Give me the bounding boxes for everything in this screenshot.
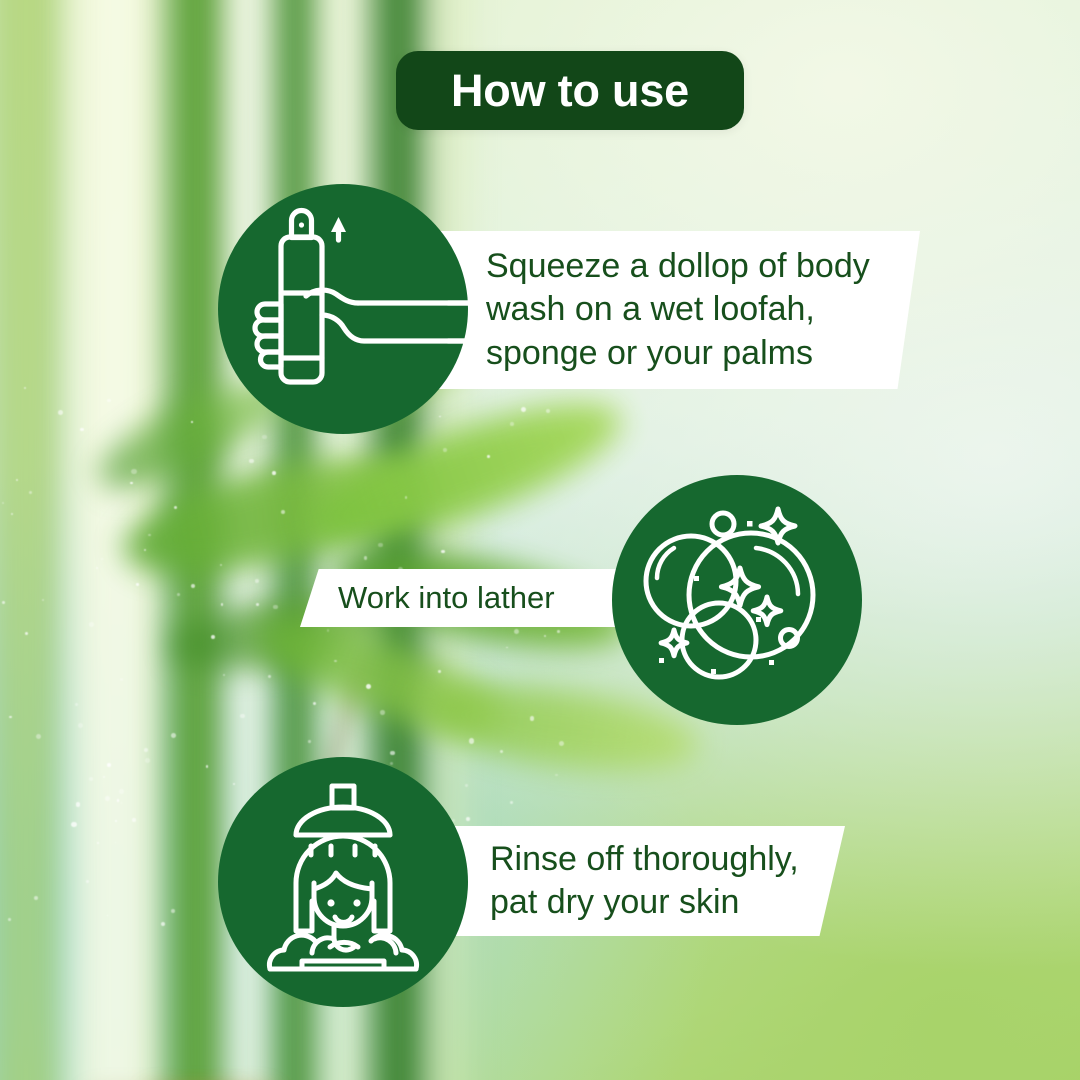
sparkle-dot xyxy=(249,459,253,463)
sparkle-dot xyxy=(132,818,136,822)
sparkle-dot xyxy=(145,758,150,763)
sparkle-dot xyxy=(206,765,208,767)
sparkle-dot xyxy=(366,684,371,689)
sparkle-dot xyxy=(177,593,180,596)
step-2-text: Work into lather xyxy=(338,579,555,616)
sparkle-dot xyxy=(438,670,440,672)
step-2-icon-circle xyxy=(612,475,862,725)
infographic-canvas: How to use Squeeze a dollop of body wash… xyxy=(0,0,1080,1080)
sparkle-dot xyxy=(390,751,395,756)
sparkle-dot xyxy=(262,435,267,440)
sparkle-dot xyxy=(220,564,222,566)
sparkle-dot xyxy=(71,822,76,827)
sparkle-dot xyxy=(308,740,310,742)
sparkle-dot xyxy=(144,549,146,551)
sparkle-dot xyxy=(443,448,447,452)
sparkle-dot xyxy=(117,799,119,801)
sparkle-dot xyxy=(131,469,136,474)
sparkle-dot xyxy=(255,579,259,583)
sparkle-dot xyxy=(76,802,80,806)
sparkle-dot xyxy=(510,801,513,804)
sparkle-dot xyxy=(80,428,83,431)
soap-bubbles-sparkle-icon xyxy=(612,475,862,725)
step-1-text: Squeeze a dollop of body wash on a wet l… xyxy=(486,245,920,375)
sparkle-dot xyxy=(555,774,558,777)
sparkle-dot xyxy=(161,922,165,926)
sparkle-dot xyxy=(191,421,193,423)
sparkle-dot xyxy=(256,603,259,606)
how-to-use-title-badge: How to use xyxy=(396,51,744,130)
sparkle-dot xyxy=(148,534,151,537)
sparkle-dot xyxy=(313,702,316,705)
sparkle-dot xyxy=(364,556,367,559)
woman-showering-icon xyxy=(218,757,468,1007)
sparkle-dot xyxy=(544,635,546,637)
sparkle-dot xyxy=(380,710,385,715)
sparkle-dot xyxy=(89,622,94,627)
sparkle-dot xyxy=(378,543,383,548)
sparkle-dot xyxy=(120,678,123,681)
sparkle-dot xyxy=(78,723,83,728)
arm-overflow-lines xyxy=(218,184,518,434)
sparkle-dot xyxy=(105,796,110,801)
sparkle-dot xyxy=(557,630,560,633)
step-3-text: Rinse off thoroughly, pat dry your skin xyxy=(490,838,845,924)
page-title: How to use xyxy=(451,68,689,113)
sparkle-dot xyxy=(171,733,176,738)
sparkle-dot xyxy=(469,738,474,743)
sparkle-dot xyxy=(130,482,133,485)
sparkle-dot xyxy=(9,716,11,718)
sparkle-dot xyxy=(487,455,489,457)
sparkle-dot xyxy=(115,820,117,822)
sparkle-dot xyxy=(101,558,103,560)
sparkle-dot xyxy=(268,675,271,678)
sparkle-dot xyxy=(107,399,110,402)
sparkle-dot xyxy=(334,660,336,662)
sparkle-dot xyxy=(103,776,105,778)
step-3-icon-circle xyxy=(218,757,468,1007)
sparkle-dot xyxy=(327,629,329,631)
sparkle-dot xyxy=(2,601,5,604)
step-3-banner: Rinse off thoroughly, pat dry your skin xyxy=(420,826,845,936)
sparkle-dot xyxy=(86,880,89,883)
sparkle-dot xyxy=(144,748,148,752)
sparkle-dot xyxy=(514,629,519,634)
sparkle-dot xyxy=(42,599,44,601)
sparkle-dot xyxy=(405,496,407,498)
step-2-banner: Work into lather xyxy=(300,569,640,627)
sparkle-dot xyxy=(16,479,18,481)
sparkle-dot xyxy=(96,567,98,569)
sparkle-dot xyxy=(136,583,138,585)
sparkle-dot xyxy=(530,716,534,720)
